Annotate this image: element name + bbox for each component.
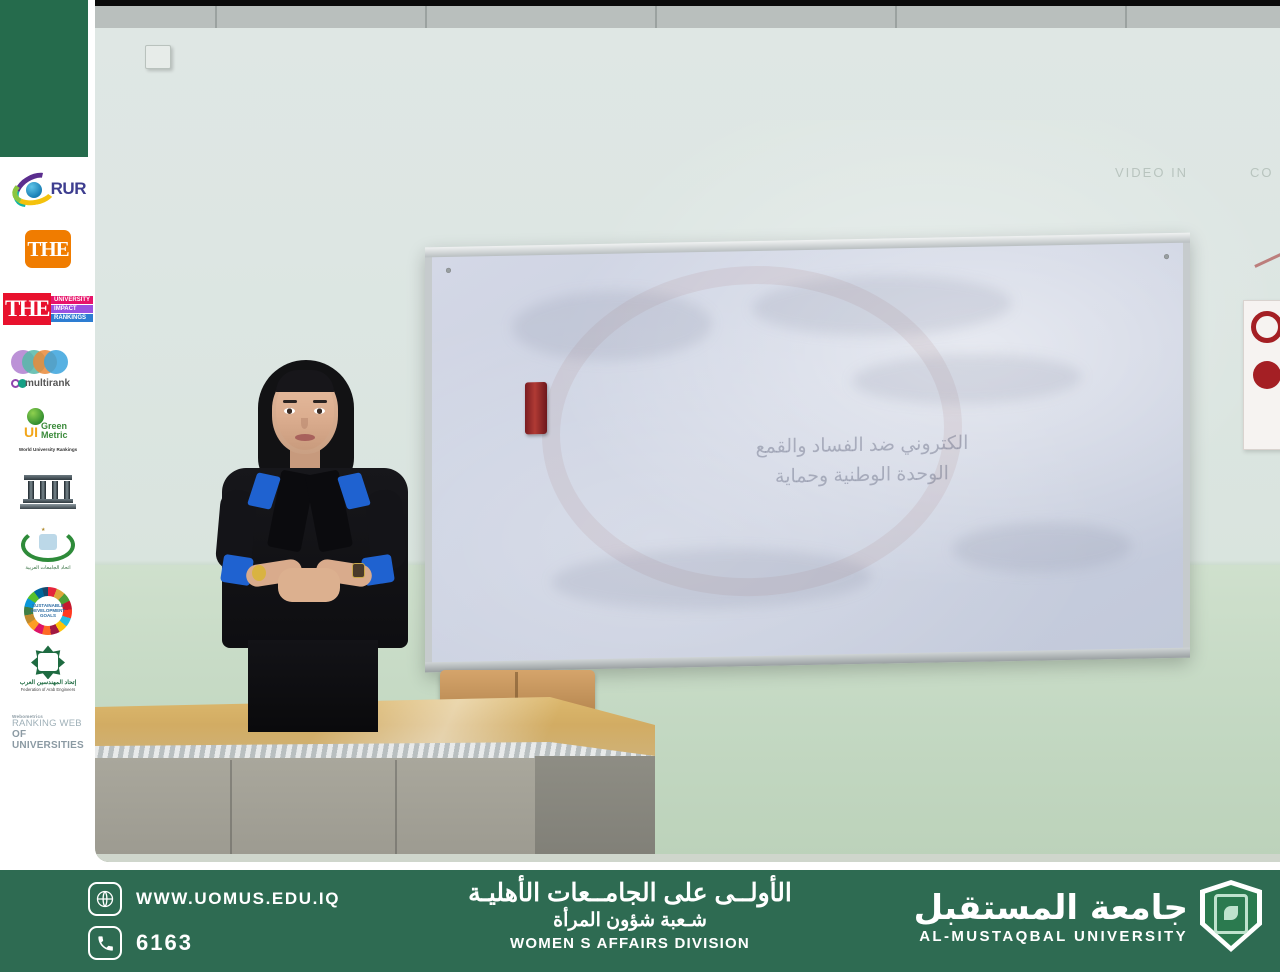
poster-root: RUR THE THE UNIVERSITY IMPACT RANKINGS — [0, 0, 1280, 972]
nose — [301, 418, 308, 429]
the-logo-label: THE — [27, 237, 68, 262]
skirt — [248, 640, 378, 732]
red-marker — [525, 382, 547, 434]
greenmetric-subtitle: World University Rankings — [11, 447, 85, 452]
tagline-arabic: الأولــى على الجامــعات الأهليـة — [400, 878, 860, 908]
sdg-label: SUSTAINABLE DEVELOPMENT GOALS — [31, 603, 65, 618]
sidebar-logo-list: RUR THE THE UNIVERSITY IMPACT RANKINGS — [8, 160, 88, 760]
arab-universities-label: اتحاد الجامعات العربية — [13, 565, 83, 571]
wristwatch — [352, 563, 365, 578]
division-arabic: شـعبة شؤون المرأة — [400, 908, 860, 934]
multirank-circle-4 — [44, 350, 68, 374]
classroom-photo: VIDEO IN CO الكتروني ضد الفساد والقمع ال… — [95, 0, 1280, 862]
column-icon-4 — [64, 481, 70, 499]
rur-logo: RUR — [8, 160, 88, 220]
the-impact-label: THE — [3, 293, 51, 325]
column-capital-icon — [24, 475, 72, 480]
university-brand: جامعة المستقبل AL-MUSTAQBAL UNIVERSITY — [914, 880, 1262, 952]
person-presenter — [200, 360, 430, 710]
federation-arabic-label: إتحاد المهندسين العرب — [11, 679, 85, 686]
column-icon-2 — [40, 481, 46, 499]
u-multirank-logo: multirank — [8, 339, 88, 399]
column-base-lower — [20, 504, 76, 509]
multirank-label: multirank — [25, 378, 70, 389]
webometrics-logo: Webometrics RANKING WEB OF UNIVERSITIES — [8, 704, 88, 760]
association-arab-universities-logo: ★ اتحاد الجامعات العربية — [8, 522, 88, 582]
footer-contact: WWW.UOMUS.EDU.IQ 6163 — [88, 882, 388, 970]
federation-arab-engineers-logo: إتحاد المهندسين العرب Federation of Arab… — [8, 641, 88, 704]
sign-circle-filled-icon — [1253, 361, 1280, 389]
desk-side-panel — [535, 756, 655, 862]
ceiling-tiles — [95, 0, 1280, 30]
impact-line-rankings: RANKINGS — [51, 314, 93, 322]
wall-sign — [1243, 300, 1280, 450]
phone-number[interactable]: 6163 — [136, 930, 193, 956]
university-crest-icon — [1200, 880, 1262, 952]
accreditation-sidebar: RUR THE THE UNIVERSITY IMPACT RANKINGS — [0, 0, 95, 870]
projection-co-text: CO — [1250, 165, 1274, 180]
footer-division-block: الأولــى على الجامــعات الأهليـة شـعبة ش… — [400, 878, 860, 954]
sdg-wheel-logo: SUSTAINABLE DEVELOPMENT GOALS — [8, 581, 88, 641]
map-icon — [39, 534, 57, 550]
column-base-upper — [23, 499, 73, 503]
phone-icon — [88, 926, 122, 960]
unesco-columns-logo — [8, 462, 88, 522]
column-icon-3 — [52, 481, 58, 499]
globe-icon — [26, 182, 42, 198]
column-icon-1 — [28, 481, 34, 499]
greenmetric-line2: Metric — [41, 431, 68, 440]
division-english: WOMEN S AFFAIRS DIVISION — [400, 934, 860, 954]
projection-video-in-text: VIDEO IN — [1115, 165, 1188, 180]
rur-logo-label: RUR — [51, 179, 86, 199]
website-label[interactable]: WWW.UOMUS.EDU.IQ — [136, 889, 340, 909]
the-logo: THE — [8, 220, 88, 280]
greenmetric-ui-label: UI — [24, 424, 38, 440]
sign-circle-outline-icon — [1251, 311, 1280, 343]
university-name-english: AL-MUSTAQBAL UNIVERSITY — [914, 928, 1188, 945]
gold-bangle — [252, 565, 266, 581]
federation-english-label: Federation of Arab Engineers — [11, 687, 85, 692]
floor — [95, 854, 1280, 862]
calligraphy-icon — [38, 653, 58, 671]
clasped-hands — [278, 568, 340, 602]
wreath-top-icon: ★ — [41, 527, 45, 533]
footer-bar: WWW.UOMUS.EDU.IQ 6163 الأولــى على الجام… — [0, 870, 1280, 972]
whiteboard: الكتروني ضد الفساد والقمع الوحدة الوطنية… — [425, 233, 1190, 673]
university-name-arabic: جامعة المستقبل — [914, 888, 1188, 928]
webometrics-line2: OF UNIVERSITIES — [12, 729, 88, 751]
mouth — [295, 434, 315, 441]
webometrics-line1: RANKING WEB — [12, 719, 88, 729]
sidebar-green-block — [0, 0, 88, 157]
ui-greenmetric-logo: UI Green Metric World University Ranking… — [8, 398, 88, 461]
the-impact-rankings-logo: THE UNIVERSITY IMPACT RANKINGS — [8, 279, 88, 339]
globe-www-icon — [88, 882, 122, 916]
impact-line-university: UNIVERSITY — [51, 296, 93, 304]
wall-mounted-box — [145, 45, 171, 69]
impact-line-impact: IMPACT — [51, 305, 93, 313]
